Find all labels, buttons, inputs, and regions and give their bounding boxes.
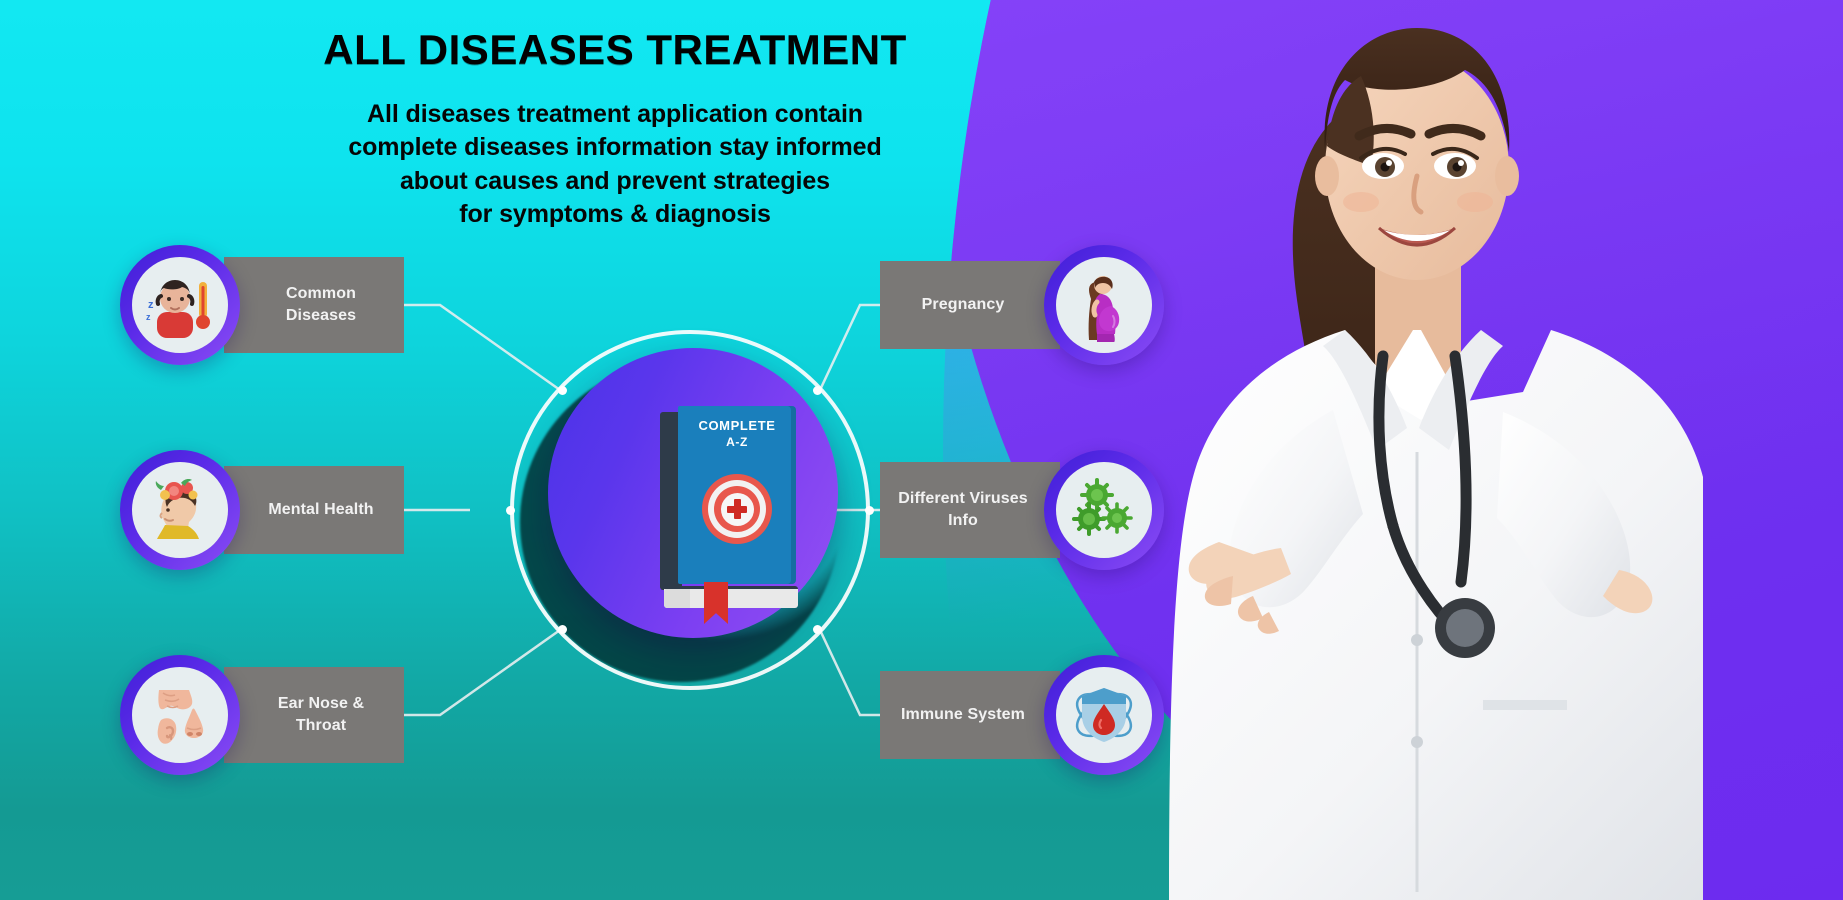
node-common-diseases[interactable]: z z Common Diseases [120, 245, 404, 365]
book-title-line2: A-Z [726, 435, 748, 449]
ear-nose-throat-icon [132, 667, 228, 763]
node-label: Mental Health [224, 466, 404, 554]
svg-text:z: z [148, 299, 154, 311]
page-title: ALL DISEASES TREATMENT [180, 28, 1050, 72]
hub-center: COMPLETE A-Z [510, 330, 870, 690]
node-label: Ear Nose & Throat [224, 667, 404, 762]
sick-person-thermometer-icon: z z [132, 257, 228, 353]
book-title: COMPLETE A-Z [678, 418, 796, 451]
medical-cross-icon [702, 474, 772, 544]
node-label: Pregnancy [880, 261, 1060, 349]
book-title-line1: COMPLETE [698, 418, 775, 433]
book-cover: COMPLETE A-Z [678, 406, 796, 584]
node-badge[interactable] [120, 450, 240, 570]
ring-dot-bottom-left [558, 625, 567, 634]
node-ear-nose-throat[interactable]: Ear Nose & Throat [120, 655, 404, 775]
ring-dot-bottom-right [813, 625, 822, 634]
node-badge[interactable]: z z [120, 245, 240, 365]
book-pages [664, 586, 798, 608]
book-pages-cap [664, 589, 690, 608]
page-subtitle: All diseases treatment application conta… [180, 98, 1050, 231]
node-label: Different Viruses Info [880, 462, 1060, 557]
book-bookmark-icon [704, 582, 728, 624]
head-with-flowers-icon [132, 462, 228, 558]
subtitle-line-1: All diseases treatment application conta… [180, 98, 1050, 131]
node-label: Immune System [880, 671, 1060, 759]
female-doctor-pointing-icon [1083, 0, 1703, 900]
banner-root: ALL DISEASES TREATMENT All diseases trea… [0, 0, 1843, 900]
subtitle-line-3: about causes and prevent strategies [180, 165, 1050, 198]
svg-text:z: z [146, 312, 151, 322]
node-mental-health[interactable]: Mental Health [120, 450, 404, 570]
ring-dot-left [506, 506, 515, 515]
ring-dot-right [865, 506, 874, 515]
hub-core-circle: COMPLETE A-Z [548, 348, 838, 638]
subtitle-line-4: for symptoms & diagnosis [180, 198, 1050, 231]
heading-block: ALL DISEASES TREATMENT All diseases trea… [180, 28, 1050, 231]
node-badge[interactable] [120, 655, 240, 775]
book-illustration: COMPLETE A-Z [660, 406, 802, 602]
node-label: Common Diseases [224, 257, 404, 352]
subtitle-line-2: complete diseases information stay infor… [180, 131, 1050, 164]
ring-dot-top-left [558, 386, 567, 395]
ring-dot-top-right [813, 386, 822, 395]
